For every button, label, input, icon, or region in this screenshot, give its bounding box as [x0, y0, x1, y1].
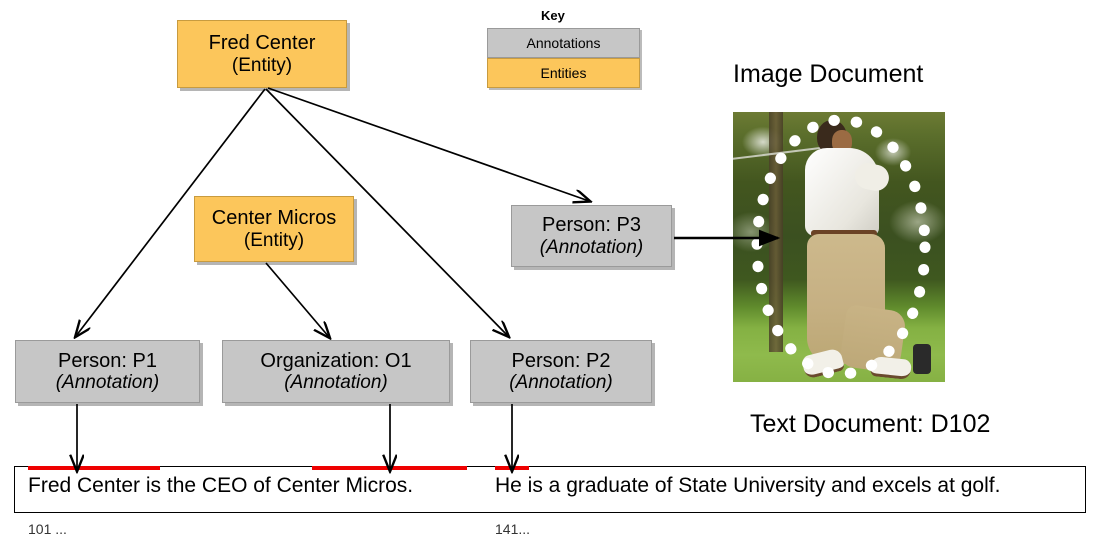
key-swatch-entities: Entities [487, 58, 640, 88]
entity-node-fred-center[interactable]: Fred Center (Entity) [177, 20, 347, 88]
mention-highlight-he [495, 466, 529, 470]
annotation-p1-type: (Annotation) [56, 372, 160, 393]
annotation-p3-type: (Annotation) [540, 237, 644, 258]
golfer-shirt [805, 148, 879, 236]
golfer-shoe-left [801, 348, 845, 380]
annotation-p1-name: Person: P1 [58, 350, 157, 372]
entity-fred-center-name: Fred Center [209, 32, 316, 54]
entity-center-micros-name: Center Micros [212, 207, 336, 229]
annotation-o1-type: (Annotation) [284, 372, 388, 393]
text-offset-label-101: 101 ... [28, 521, 67, 537]
key-swatch-annotations: Annotations [487, 28, 640, 58]
annotation-node-o1[interactable]: Organization: O1 (Annotation) [222, 340, 450, 403]
annotation-p3-name: Person: P3 [542, 214, 641, 236]
golf-bag [913, 344, 931, 374]
entity-fred-center-type: (Entity) [232, 55, 292, 76]
text-document-title: Text Document: D102 [750, 410, 990, 439]
golfer-shoe-right [870, 356, 912, 380]
text-offset-label-141: 141... [495, 521, 530, 537]
key-title: Key [541, 8, 565, 23]
annotation-p2-name: Person: P2 [512, 350, 611, 372]
annotation-p2-type: (Annotation) [509, 372, 613, 393]
annotation-node-p1[interactable]: Person: P1 (Annotation) [15, 340, 200, 403]
annotation-node-p2[interactable]: Person: P2 (Annotation) [470, 340, 652, 403]
key-entities-label: Entities [541, 65, 587, 81]
edge-fred-center-to-p3 [268, 88, 589, 201]
key-annotations-label: Annotations [527, 35, 601, 51]
annotation-o1-name: Organization: O1 [260, 350, 411, 372]
image-document[interactable] [733, 112, 945, 382]
tree-trunk [769, 112, 783, 352]
diagram-canvas: Key Annotations Entities Fred Center (En… [0, 0, 1101, 546]
entity-center-micros-type: (Entity) [244, 230, 304, 251]
mention-highlight-center-micros [312, 466, 467, 470]
mention-highlight-fred-center [28, 466, 160, 470]
annotation-node-p3[interactable]: Person: P3 (Annotation) [511, 205, 672, 267]
image-document-title: Image Document [733, 60, 923, 89]
edge-center-micros-to-o1 [266, 263, 329, 337]
golfer-photo [733, 112, 945, 382]
entity-node-center-micros[interactable]: Center Micros (Entity) [194, 196, 354, 262]
text-document-sentence-2: He is a graduate of State University and… [495, 474, 1000, 498]
text-document-sentence-1: Fred Center is the CEO of Center Micros. [28, 474, 413, 498]
